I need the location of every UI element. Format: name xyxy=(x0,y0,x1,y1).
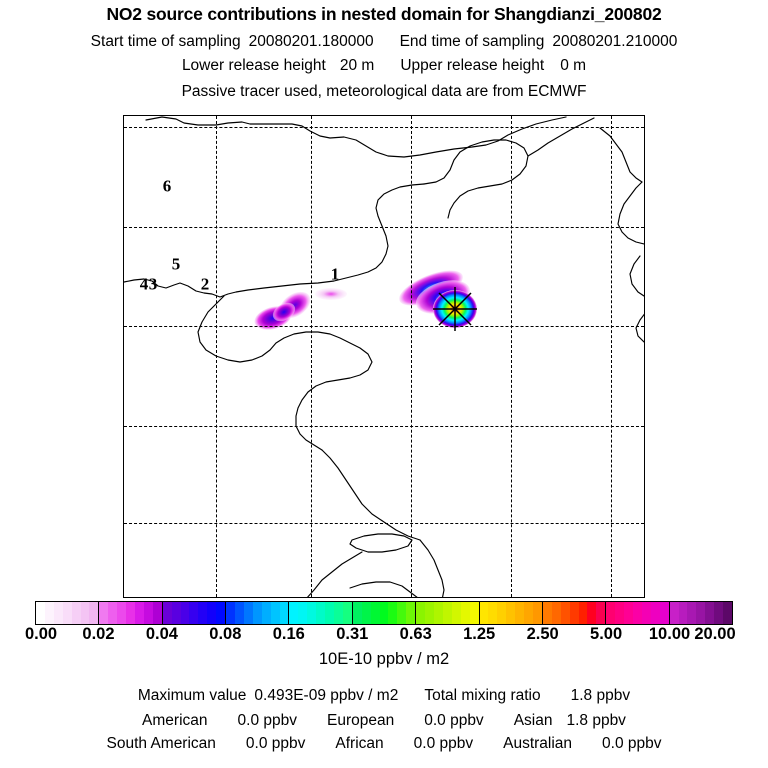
colorbar-step-5-4 xyxy=(388,602,397,624)
south-china-coast xyxy=(420,540,444,598)
colorbar-step-8-6 xyxy=(596,602,605,624)
region-value-south-american: 0.0 ppbv xyxy=(246,736,305,752)
colorbar-step-9-6 xyxy=(660,602,669,624)
region-label-american: American xyxy=(142,713,207,729)
colorbar-step-3-4 xyxy=(262,602,271,624)
colorbar-wrap: 0.000.020.040.080.160.310.631.252.505.00… xyxy=(35,601,733,625)
colorbar-step-7-4 xyxy=(515,602,524,624)
colorbar-step-8-0 xyxy=(543,602,552,624)
colorbar-segment-6 xyxy=(416,602,479,624)
colorbar-step-4-2 xyxy=(307,602,316,624)
yangtze-inlet-2 xyxy=(350,582,418,598)
colorbar-tick-3: 0.08 xyxy=(209,626,241,643)
region-value-american: 0.0 ppbv xyxy=(238,713,297,729)
gridline-h-3 xyxy=(124,326,644,327)
colorbar-step-1-1 xyxy=(108,602,117,624)
colorbar-step-1-0 xyxy=(99,602,108,624)
colorbar-tick-10: 10.00 xyxy=(649,626,690,643)
gridline-h-5 xyxy=(124,523,644,524)
colorbar-step-2-4 xyxy=(198,602,207,624)
map-canvas: 6 5 4 3 2 1 xyxy=(124,116,644,597)
colorbar-step-10-1 xyxy=(679,602,688,624)
map-region-label-6: 6 xyxy=(163,178,172,195)
map-region-label-3: 3 xyxy=(149,276,158,293)
figure-root: NO2 source contributions in nested domai… xyxy=(0,0,768,768)
colorbar-step-4-4 xyxy=(325,602,334,624)
end-time-value: 20080201.210000 xyxy=(552,34,677,50)
colorbar-segment-0 xyxy=(36,602,99,624)
colorbar-step-4-6 xyxy=(343,602,352,624)
yangtze-inlet-1 xyxy=(350,534,412,552)
colorbar-tick-1: 0.02 xyxy=(82,626,114,643)
start-time-label: Start time of sampling xyxy=(91,34,241,50)
sampling-time-row: Start time of sampling 20080201.180000 E… xyxy=(0,24,768,50)
colorbar-step-6-0 xyxy=(416,602,425,624)
region-value-african: 0.0 ppbv xyxy=(414,736,473,752)
region-label-european: European xyxy=(327,713,394,729)
colorbar-step-10-6 xyxy=(723,602,732,624)
page-title: NO2 source contributions in nested domai… xyxy=(0,0,768,24)
colorbar-step-3-1 xyxy=(235,602,244,624)
colorbar-step-6-1 xyxy=(425,602,434,624)
korea-west-coast xyxy=(600,128,642,182)
northern-border-feature xyxy=(146,117,566,157)
colorbar-step-3-5 xyxy=(271,602,280,624)
colorbar-step-5-5 xyxy=(397,602,406,624)
region-value-australian: 0.0 ppbv xyxy=(602,736,661,752)
colorbar-segment-9 xyxy=(606,602,669,624)
gridline-v-3 xyxy=(411,116,412,597)
south-coast-tail xyxy=(306,552,362,598)
colorbar-step-0-5 xyxy=(81,602,90,624)
west-coastline xyxy=(124,184,424,297)
region-value-european: 0.0 ppbv xyxy=(424,713,483,729)
colorbar-step-5-3 xyxy=(380,602,389,624)
colorbar-segment-10 xyxy=(670,602,732,624)
colorbar-step-5-2 xyxy=(371,602,380,624)
colorbar-segment-2 xyxy=(163,602,226,624)
colorbar-step-9-3 xyxy=(633,602,642,624)
colorbar-tick-5: 0.31 xyxy=(336,626,368,643)
colorbar-segment-5 xyxy=(353,602,416,624)
colorbar-segment-4 xyxy=(289,602,352,624)
colorbar-step-6-2 xyxy=(434,602,443,624)
total-mixing-ratio-label: Total mixing ratio xyxy=(424,688,540,704)
colorbar-segment-8 xyxy=(543,602,606,624)
release-height-row: Lower release height 20 m Upper release … xyxy=(0,49,768,74)
colorbar-step-10-3 xyxy=(696,602,705,624)
tracer-note-text: Passive tracer used, meteorological data… xyxy=(182,84,587,100)
colorbar-step-7-0 xyxy=(480,602,489,624)
colorbar-step-0-1 xyxy=(45,602,54,624)
map-panel[interactable]: 6 5 4 3 2 1 xyxy=(123,115,645,598)
colorbar-unit-label: 10E-10 ppbv / m2 xyxy=(0,651,768,668)
colorbar-step-0-0 xyxy=(36,602,45,624)
colorbar-ticks: 0.000.020.040.080.160.310.631.252.505.00… xyxy=(35,626,733,646)
colorbar-segment-3 xyxy=(226,602,289,624)
colorbar-step-4-5 xyxy=(334,602,343,624)
figure-header: NO2 source contributions in nested domai… xyxy=(0,0,768,99)
figure-footer: Maximum value 0.493E-09 ppbv / m2 Total … xyxy=(0,688,768,752)
colorbar-step-1-6 xyxy=(153,602,162,624)
region-label-australian: Australian xyxy=(503,736,572,752)
colorbar-step-5-0 xyxy=(353,602,362,624)
colorbar-tick-11: 20.00 xyxy=(694,626,735,643)
max-value-value: 0.493E-09 ppbv / m2 xyxy=(254,688,398,704)
colorbar-step-8-1 xyxy=(552,602,561,624)
colorbar-tick-4: 0.16 xyxy=(273,626,305,643)
region-value-asian: 1.8 ppbv xyxy=(566,713,625,729)
gridline-h-2 xyxy=(124,227,644,228)
colorbar-segment-1 xyxy=(99,602,162,624)
map-region-label-4: 4 xyxy=(140,276,149,293)
colorbar-segment-7 xyxy=(480,602,543,624)
colorbar-step-8-3 xyxy=(570,602,579,624)
upper-release-label: Upper release height xyxy=(400,58,544,74)
colorbar-step-2-2 xyxy=(181,602,190,624)
region-label-south-american: South American xyxy=(106,736,215,752)
colorbar-step-3-0 xyxy=(226,602,235,624)
colorbar-step-3-3 xyxy=(253,602,262,624)
colorbar-step-10-4 xyxy=(705,602,714,624)
korea-east-coast xyxy=(618,182,644,244)
colorbar[interactable] xyxy=(35,601,733,625)
colorbar-step-1-4 xyxy=(135,602,144,624)
tracer-note: Passive tracer used, meteorological data… xyxy=(0,74,768,100)
footer-region-row-2: South American 0.0 ppbv African 0.0 ppbv… xyxy=(0,736,768,752)
colorbar-step-7-3 xyxy=(506,602,515,624)
colorbar-tick-7: 1.25 xyxy=(463,626,495,643)
colorbar-tick-0: 0.00 xyxy=(25,626,57,643)
colorbar-step-7-6 xyxy=(533,602,542,624)
colorbar-step-4-1 xyxy=(298,602,307,624)
map-region-label-5: 5 xyxy=(172,256,181,273)
region-label-asian: Asian xyxy=(514,713,553,729)
colorbar-step-1-3 xyxy=(126,602,135,624)
colorbar-step-0-6 xyxy=(89,602,98,624)
footer-summary-row: Maximum value 0.493E-09 ppbv / m2 Total … xyxy=(0,688,768,713)
japan-west-edge xyxy=(630,256,644,296)
colorbar-step-0-3 xyxy=(63,602,72,624)
total-mixing-ratio-value: 1.8 ppbv xyxy=(571,688,630,704)
colorbar-step-2-3 xyxy=(189,602,198,624)
colorbar-step-2-0 xyxy=(163,602,172,624)
colorbar-step-10-0 xyxy=(670,602,679,624)
map-region-label-1: 1 xyxy=(331,266,340,283)
colorbar-step-8-5 xyxy=(587,602,596,624)
colorbar-step-8-4 xyxy=(579,602,588,624)
colorbar-step-0-4 xyxy=(72,602,81,624)
colorbar-step-6-3 xyxy=(443,602,452,624)
colorbar-step-10-2 xyxy=(687,602,696,624)
release-point-asterisk-icon xyxy=(432,286,478,332)
gridline-h-4 xyxy=(124,426,644,427)
colorbar-step-9-2 xyxy=(624,602,633,624)
colorbar-tick-6: 0.63 xyxy=(400,626,432,643)
colorbar-step-9-1 xyxy=(615,602,624,624)
colorbar-step-1-2 xyxy=(117,602,126,624)
gridline-v-1 xyxy=(216,116,217,597)
colorbar-step-6-4 xyxy=(452,602,461,624)
region-label-african: African xyxy=(335,736,383,752)
colorbar-step-2-5 xyxy=(207,602,216,624)
colorbar-tick-2: 0.04 xyxy=(146,626,178,643)
lower-release-value: 20 m xyxy=(340,58,374,74)
footer-region-row-1: American 0.0 ppbv European 0.0 ppbv Asia… xyxy=(0,713,768,737)
colorbar-step-2-6 xyxy=(216,602,225,624)
colorbar-step-7-2 xyxy=(497,602,506,624)
colorbar-tick-8: 2.50 xyxy=(527,626,559,643)
colorbar-step-5-1 xyxy=(362,602,371,624)
lower-release-label: Lower release height xyxy=(182,58,326,74)
colorbar-step-3-6 xyxy=(280,602,289,624)
colorbar-step-4-0 xyxy=(289,602,298,624)
colorbar-step-10-5 xyxy=(714,602,723,624)
colorbar-step-8-2 xyxy=(561,602,570,624)
colorbar-step-9-4 xyxy=(642,602,651,624)
upper-release-value: 0 m xyxy=(560,58,586,74)
colorbar-step-1-5 xyxy=(144,602,153,624)
map-region-label-2: 2 xyxy=(201,276,210,293)
colorbar-step-9-5 xyxy=(651,602,660,624)
end-time-label: End time of sampling xyxy=(400,34,545,50)
gridline-v-5 xyxy=(611,116,612,597)
colorbar-step-9-0 xyxy=(606,602,615,624)
gridline-h-1 xyxy=(124,127,644,128)
colorbar-step-2-1 xyxy=(172,602,181,624)
gridline-v-4 xyxy=(511,116,512,597)
coastline-layer xyxy=(124,116,645,598)
colorbar-tick-9: 5.00 xyxy=(590,626,622,643)
colorbar-step-3-2 xyxy=(244,602,253,624)
japan-south-edge xyxy=(636,312,645,342)
colorbar-step-4-3 xyxy=(316,602,325,624)
max-value-label: Maximum value xyxy=(138,688,247,704)
colorbar-step-6-6 xyxy=(470,602,479,624)
gridline-v-2 xyxy=(311,116,312,597)
start-time-value: 20080201.180000 xyxy=(249,34,374,50)
east-china-coast xyxy=(322,450,420,540)
colorbar-step-7-5 xyxy=(524,602,533,624)
colorbar-step-7-1 xyxy=(488,602,497,624)
colorbar-step-5-6 xyxy=(406,602,415,624)
colorbar-step-6-5 xyxy=(461,602,470,624)
colorbar-step-0-2 xyxy=(54,602,63,624)
